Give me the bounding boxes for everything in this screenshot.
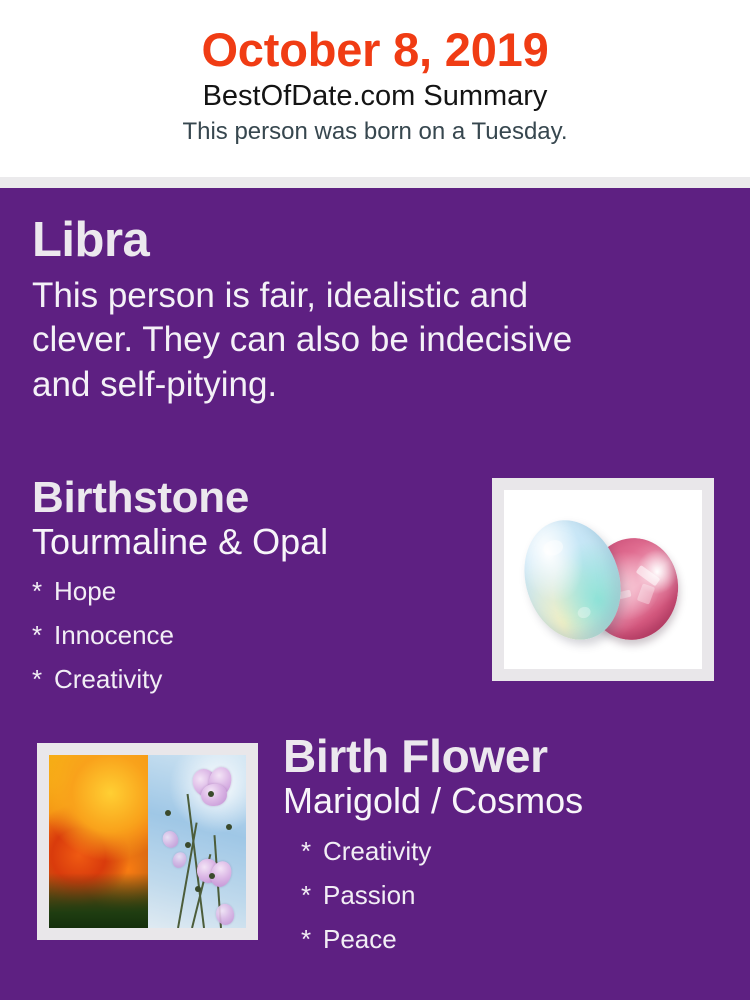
birthstone-title: Birthstone [32, 476, 472, 521]
list-item: *Creativity [32, 657, 472, 701]
birthstone-trait-label: Creativity [54, 664, 162, 694]
gem-facet [637, 583, 655, 605]
cosmos-bud [226, 824, 232, 830]
zodiac-description: This person is fair, idealistic and clev… [32, 265, 612, 407]
birth-flower-trait-list: *Creativity *Passion *Peace [283, 821, 723, 962]
birth-flower-title: Birth Flower [283, 733, 723, 780]
list-item: *Creativity [301, 829, 723, 873]
cosmos-petal [171, 850, 188, 869]
birth-flower-trait-label: Passion [323, 880, 416, 910]
page-title-date: October 8, 2019 [0, 0, 750, 74]
cosmos-flower-center [209, 873, 215, 879]
cosmos-petal [160, 829, 181, 851]
gem-highlight [576, 605, 592, 619]
list-item: *Hope [32, 569, 472, 613]
marigold-photo-half [49, 755, 148, 928]
birth-flower-trait-label: Peace [323, 924, 397, 954]
zodiac-sign-name: Libra [32, 216, 632, 265]
birthstone-trait-list: *Hope *Innocence *Creativity [32, 562, 472, 702]
asterisk-icon: * [32, 613, 54, 657]
birthstone-photo [504, 490, 702, 669]
weekday-statement: This person was born on a Tuesday. [0, 113, 750, 145]
birthstone-trait-label: Hope [54, 576, 116, 606]
birthstone-names: Tourmaline & Opal [32, 521, 472, 562]
birth-flower-photo [49, 755, 246, 928]
birth-flower-section: Birth Flower Marigold / Cosmos *Creativi… [283, 733, 723, 961]
list-item: *Innocence [32, 613, 472, 657]
list-item: *Passion [301, 873, 723, 917]
birth-flower-trait-label: Creativity [323, 836, 431, 866]
site-summary-label: BestOfDate.com Summary [0, 74, 750, 113]
cosmos-bud [185, 842, 191, 848]
cosmos-flower-center [208, 791, 214, 797]
birthstone-section: Birthstone Tourmaline & Opal *Hope *Inno… [32, 476, 472, 701]
gem-facet [636, 565, 661, 586]
cosmos-bud [165, 810, 171, 816]
birthstone-image-frame [492, 478, 714, 681]
cosmos-petal [214, 902, 236, 926]
asterisk-icon: * [301, 917, 323, 961]
birthstone-trait-label: Innocence [54, 620, 174, 650]
birthday-summary-page: October 8, 2019 BestOfDate.com Summary T… [0, 0, 750, 1000]
asterisk-icon: * [301, 873, 323, 917]
birth-flower-names: Marigold / Cosmos [283, 780, 723, 821]
header-divider [0, 177, 750, 188]
gem-highlight [541, 537, 565, 557]
summary-panel: Libra This person is fair, idealistic an… [0, 188, 750, 1000]
page-header: October 8, 2019 BestOfDate.com Summary T… [0, 0, 750, 177]
asterisk-icon: * [301, 829, 323, 873]
asterisk-icon: * [32, 569, 54, 613]
birth-flower-image-frame [37, 743, 258, 940]
zodiac-section: Libra This person is fair, idealistic an… [32, 216, 632, 407]
cosmos-photo-half [148, 755, 247, 928]
asterisk-icon: * [32, 657, 54, 701]
list-item: *Peace [301, 917, 723, 961]
